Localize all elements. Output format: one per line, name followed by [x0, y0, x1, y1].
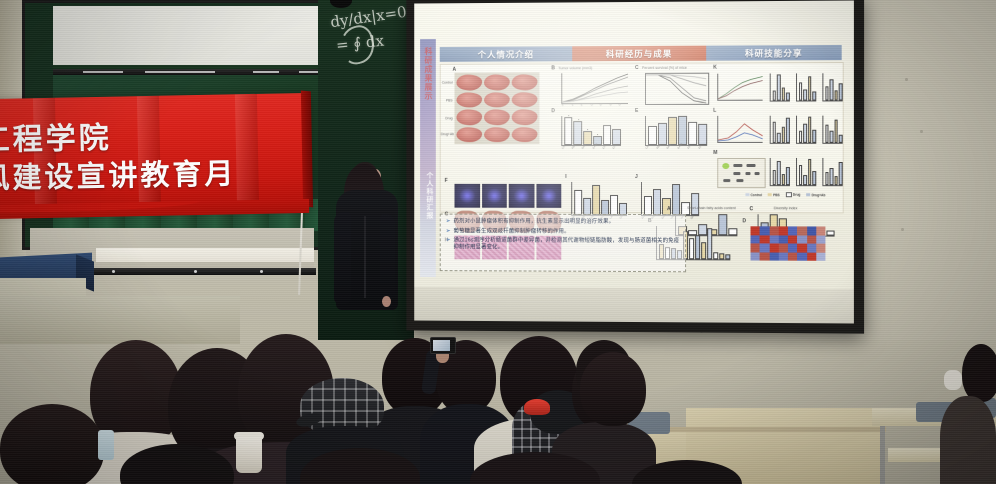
coffee-cup [236, 437, 262, 473]
panel-label-J: J [635, 174, 638, 180]
presentation-slide: 科研成果展示 个人科研汇报 个人情况介绍 科研经历与成果 科研技能分享 A [414, 0, 854, 289]
slide-rail-text-bottom: 个人科研汇报 [422, 172, 434, 271]
panel-E-bar-chart [645, 116, 707, 146]
wall-speck [901, 228, 904, 231]
banner-line-2: 风建设宣讲教育月 [0, 150, 237, 197]
panel-label-D: D [551, 108, 555, 114]
row-label-pbs: PBS [441, 99, 453, 103]
speaker-hand [382, 296, 391, 307]
panel-M-western-blot [717, 158, 765, 188]
bullet-text-0: 药剂对小鼠肿瘤体积有抑制作用，抗生素显示出明显的治疗效果。 [454, 219, 615, 226]
panel-grid-bar-4 [770, 116, 790, 144]
tab-personal-intro[interactable]: 个人情况介绍 [440, 46, 572, 62]
panel-grid-bar-1 [770, 73, 790, 101]
panel-label-K: K [713, 65, 717, 71]
slide-bullet-box: ➢ 药剂对小鼠肿瘤体积有抑制作用，抗生素显示出明显的治疗效果。 ➢ 葡萄糖显著生… [440, 214, 686, 273]
wall-speck [905, 78, 908, 81]
slide-rail-text-top: 科研成果展示 [422, 47, 434, 142]
panel-title-B: Tumor volume (mm3) [558, 66, 592, 70]
screen-blank-band [414, 287, 854, 324]
panel-title-lower-C: Diversity index [774, 206, 798, 210]
panel-label-B: B [551, 65, 555, 71]
row-label-drugab: Drug+Ab [441, 132, 453, 136]
panel-grid-bar-7 [770, 158, 790, 186]
red-banner: 工程学院 风建设宣讲教育月 [0, 93, 309, 211]
panel-C-survival-chart [645, 73, 709, 105]
panel-A-tumor-grid [455, 72, 540, 144]
panel-D-bar-chart [561, 116, 621, 146]
panel-label-lower-C: C [749, 206, 753, 212]
panel-label-F: F [445, 178, 448, 184]
panel-D-correlation-heatmap [751, 226, 826, 260]
smartphone-screen [433, 340, 450, 351]
panel-grid-bar-5 [796, 116, 816, 144]
panel-grid-bar-8 [796, 158, 816, 186]
legend-item-2: Drug [793, 193, 801, 197]
panel-title-lower-A: Short-chain fatty acids content [687, 206, 736, 210]
speaker-left-arm [334, 212, 351, 304]
panel-label-blot: M [713, 150, 717, 156]
wall-speck [920, 130, 923, 133]
research-figure-board: A Control PBS Drug Drug+Ab B Tumor volum… [440, 62, 844, 213]
legend-item-0: Control [751, 193, 762, 197]
desk-leg [880, 426, 885, 484]
row-label-drug: Drug [441, 116, 453, 120]
panel-grid-bar-9 [822, 158, 842, 186]
panel-label-lower-A: A [667, 206, 671, 212]
panel-grid-bar-6 [822, 116, 842, 144]
speaker-presenter [318, 160, 410, 350]
figure-legend: Control PBS Drug Drug+Ab [745, 192, 825, 197]
water-bottle [98, 430, 114, 460]
legend-item-3: Drug+Ab [812, 193, 826, 197]
speaker-right-arm [380, 214, 395, 300]
bullet-text-2: 通过16s测序分析肠道菌群中差异菌，并检测其代谢物短链脂肪酸，发现与肠道菌相关的… [454, 237, 681, 252]
red-hair-clip [524, 399, 550, 415]
bullet-item: ➢ 通过16s测序分析肠道菌群中差异菌，并检测其代谢物短链脂肪酸，发现与肠道菌相… [446, 237, 680, 252]
panel-label-C: C [635, 65, 639, 71]
bullet-arrow-icon: ➢ [446, 228, 451, 235]
bullet-text-1: 葡萄糖显著生成双歧杆菌抑制肿瘤转移的作用。 [454, 228, 570, 235]
coat-seam [364, 216, 366, 298]
tab-research-skills[interactable]: 科研技能分享 [706, 45, 842, 61]
panel-label-lower-D: D [742, 218, 746, 224]
whiteboard-panel [53, 6, 341, 70]
panel-F-fluorescence-images [455, 184, 562, 208]
bullet-item: ➢ 药剂对小鼠肿瘤体积有抑制作用，抗生素显示出明显的治疗效果。 [446, 219, 680, 227]
legend-item-1: PBS [773, 193, 780, 197]
whiteboard-strip [96, 248, 314, 262]
panel-label-E: E [635, 108, 638, 114]
panel-grid-bar-3 [822, 73, 842, 101]
panel-title-C: Percent survival (%) of mice [642, 66, 687, 70]
panel-label-I: I [565, 174, 566, 180]
slide-section-tabs: 个人情况介绍 科研经历与成果 科研技能分享 [440, 45, 842, 62]
row-label-control: Control [441, 81, 453, 85]
bullet-arrow-icon: ➢ [446, 237, 451, 251]
lecture-hall-photo: 工程学院 风建设宣讲教育月 dy/dx|x=0 = ∮ dx 学院标识 科研成果… [0, 0, 996, 484]
panel-K-line-chart [717, 74, 762, 101]
bullet-item: ➢ 葡萄糖显著生成双歧杆菌抑制肿瘤转移的作用。 [446, 228, 680, 236]
panel-label-L: L [713, 108, 716, 114]
face-mask [944, 370, 962, 390]
bullet-arrow-icon: ➢ [446, 219, 451, 226]
panel-grid-bar-2 [796, 73, 816, 101]
tab-research-experience[interactable]: 科研经历与成果 [572, 46, 706, 62]
projection-screen[interactable]: 科研成果展示 个人科研汇报 个人情况介绍 科研经历与成果 科研技能分享 A [414, 0, 854, 323]
board-bottom-rail [68, 268, 316, 275]
projection-screen-frame: 科研成果展示 个人科研汇报 个人情况介绍 科研经历与成果 科研技能分享 A [406, 0, 864, 334]
panel-L-line-chart [717, 116, 762, 143]
panel-I-bar-chart [571, 182, 627, 216]
stage-front [0, 296, 240, 344]
